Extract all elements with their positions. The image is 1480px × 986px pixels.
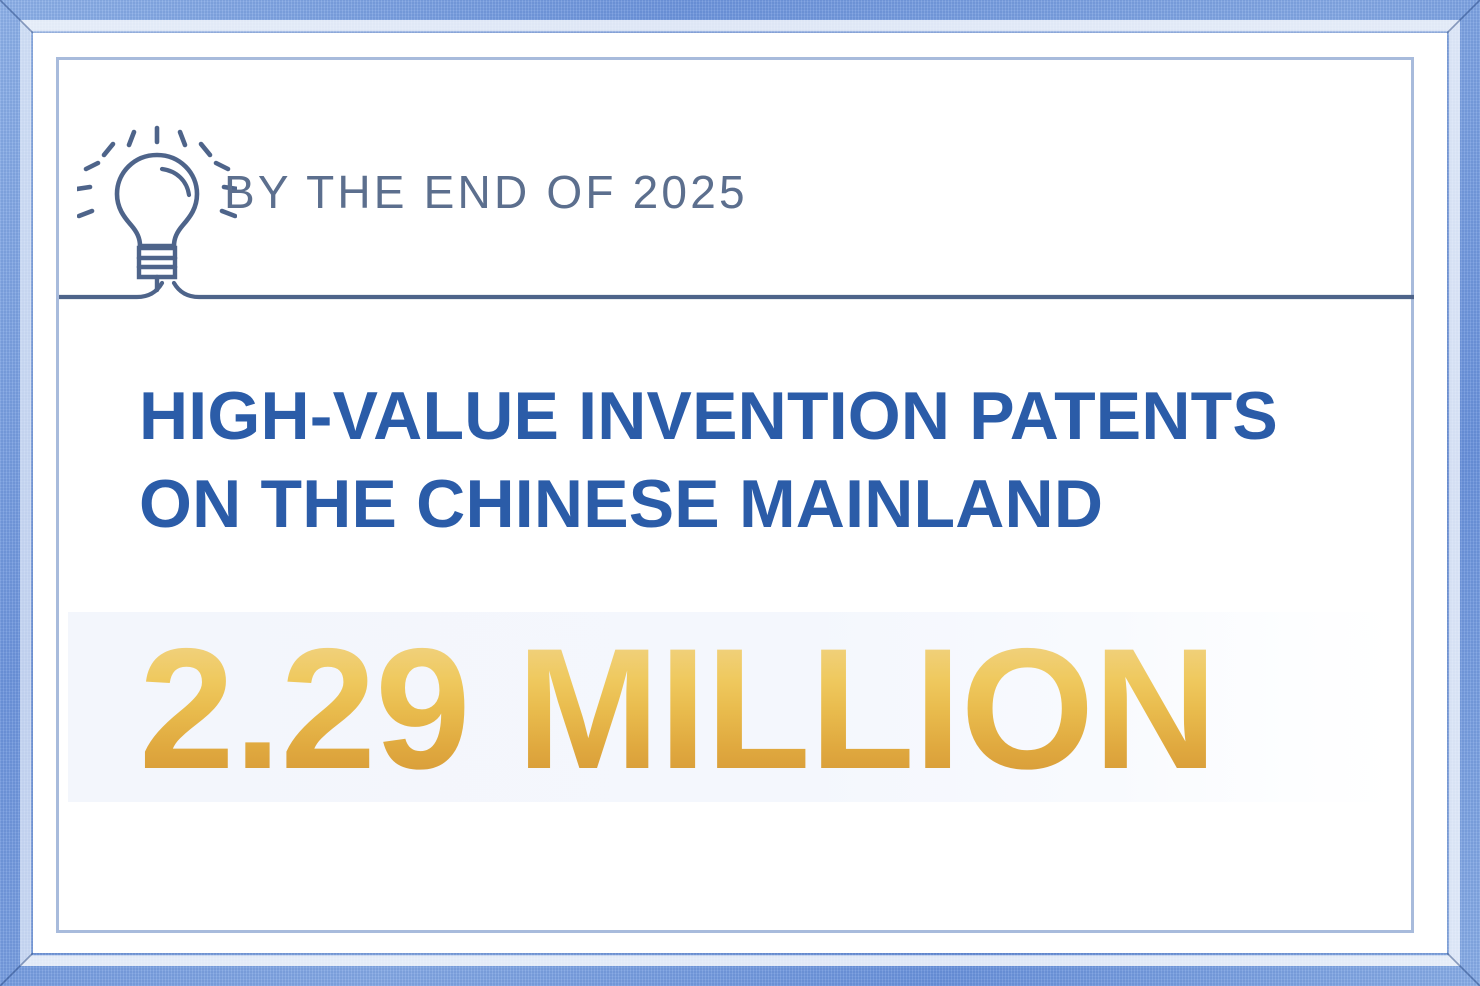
page-title: HIGH-VALUE INVENTION PATENTS ON THE CHIN… (139, 372, 1319, 548)
header-divider (59, 276, 1414, 316)
eyebrow-label: BY THE END OF 2025 (224, 165, 748, 219)
stat-value: 2.29 MILLION (139, 614, 1217, 804)
headline-line-2: ON THE CHINESE MAINLAND (139, 460, 1319, 548)
header-section: BY THE END OF 2025 (59, 60, 1414, 299)
picture-frame: BY THE END OF 2025 HIGH-VALUE INVENTION … (0, 0, 1480, 986)
headline-line-1: HIGH-VALUE INVENTION PATENTS (139, 372, 1319, 460)
